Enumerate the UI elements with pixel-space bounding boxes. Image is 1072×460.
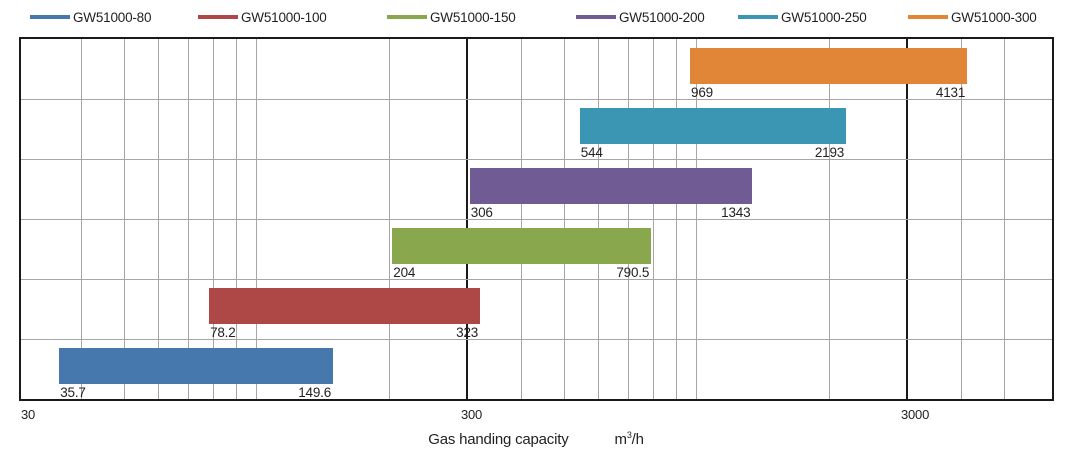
x-axis-unit-tail: /h xyxy=(632,431,644,448)
plot-area: 35.7149.678.2323204790.53061343544219396… xyxy=(19,37,1054,401)
range-bar-gw51000-200[interactable] xyxy=(470,168,753,204)
bar-low-value-label: 78.2 xyxy=(210,325,235,340)
range-bar-gw51000-250[interactable] xyxy=(580,108,846,144)
gridline-horizontal xyxy=(21,159,1052,160)
bar-high-value-label: 323 xyxy=(420,325,478,340)
bar-low-value-label: 306 xyxy=(471,205,493,220)
x-axis-tick-300: 300 xyxy=(461,407,482,422)
bar-low-value-label: 204 xyxy=(393,265,415,280)
x-axis-title-text: Gas handing capacity xyxy=(428,431,568,448)
x-axis-tick-3000: 3000 xyxy=(901,407,929,422)
range-bar-gw51000-300[interactable] xyxy=(690,48,967,84)
range-bar-gw51000-100[interactable] xyxy=(209,288,480,324)
bar-high-value-label: 149.6 xyxy=(273,385,331,400)
x-axis-title: Gas handing capacitym3/h xyxy=(0,430,1072,448)
bar-high-value-label: 4131 xyxy=(907,85,965,100)
gridline-horizontal xyxy=(21,279,1052,280)
gridline-horizontal xyxy=(21,219,1052,220)
bar-high-value-label: 1343 xyxy=(692,205,750,220)
bar-high-value-label: 2193 xyxy=(786,145,844,160)
range-bar-gw51000-80[interactable] xyxy=(59,348,333,384)
chart-plot-wrapper: 35.7149.678.2323204790.53061343544219396… xyxy=(0,0,1072,460)
x-axis-tick-30: 30 xyxy=(21,407,35,422)
bar-high-value-label: 790.5 xyxy=(591,265,649,280)
gridline-horizontal xyxy=(21,339,1052,340)
bar-low-value-label: 969 xyxy=(691,85,713,100)
bar-low-value-label: 35.7 xyxy=(60,385,85,400)
range-bar-gw51000-150[interactable] xyxy=(392,228,651,264)
gridline-horizontal xyxy=(21,99,1052,100)
x-axis-unit: m3/h xyxy=(615,431,644,448)
bar-low-value-label: 544 xyxy=(581,145,603,160)
x-axis-unit-base: m xyxy=(615,431,627,448)
